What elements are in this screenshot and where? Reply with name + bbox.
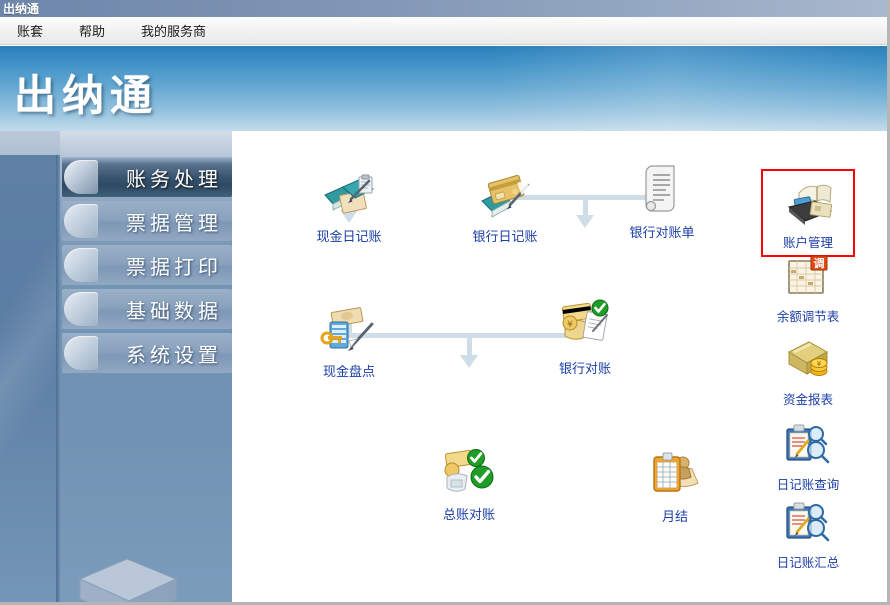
bank-statement-icon [607,167,717,217]
workflow-node-label: 账户管理 [765,232,851,251]
month-end-icon [620,451,730,501]
menu-item-help[interactable]: 帮助 [76,19,108,42]
sidebar-item-basic-data[interactable]: 基础数据 [62,289,232,329]
workflow-node-label: 资金报表 [753,389,863,408]
workflow-node-label: 银行日记账 [450,226,560,245]
workflow-node-label: 余额调节表 [753,306,863,325]
sidebar-item-label: 系统设置 [126,339,222,368]
sidebar-item-cap-icon [64,336,98,370]
workflow-node-cash-journal[interactable]: 现金日记账 [294,171,404,245]
sidebar-item-bill-manage[interactable]: 票据管理 [62,201,232,241]
ledger-reconcile-icon [414,449,524,499]
menu-item-my-provider[interactable]: 我的服务商 [138,19,209,42]
svg-text:调: 调 [814,256,825,270]
workflow-node-balance-adjust[interactable]: 调 余额调节表 [753,251,863,325]
workflow-node-ledger-reconcile[interactable]: 总账对账 [414,449,524,523]
sidebar-menu-list: 账务处理 票据管理 票据打印 基础数据 系统设置 [62,157,232,377]
connector-arrow-icon [576,215,594,228]
sidebar-item-cap-icon [64,292,98,326]
app-banner: 出纳通 [0,46,890,131]
svg-text:¥: ¥ [817,360,822,368]
sidebar-item-bill-print[interactable]: 票据打印 [62,245,232,285]
workflow-node-label: 总账对账 [414,504,524,523]
workflow-node-bank-journal[interactable]: 银行日记账 [450,171,560,245]
title-bar: 出纳通 [0,0,890,17]
workflow-node-bank-statement[interactable]: 银行对账单 [607,167,717,241]
workflow-node-label: 现金盘点 [294,361,404,380]
workflow-node-label: 月结 [620,506,730,525]
window-title: 出纳通 [3,0,39,17]
sidebar-item-label: 基础数据 [126,295,222,324]
workflow-node-cash-count[interactable]: 现金盘点 [294,306,404,380]
sidebar-item-system-settings[interactable]: 系统设置 [62,333,232,373]
connector-line [583,195,588,217]
workflow-node-label: 银行对账 [530,358,640,377]
menu-item-account-set[interactable]: 账套 [14,19,46,42]
workflow-node-label: 现金日记账 [294,226,404,245]
workflow-node-journal-query[interactable]: 日记账查询 [753,419,863,493]
main-content: 现金日记账 银行日记账 [232,131,887,605]
sidebar-top-highlight [60,131,232,157]
sidebar-sheen [0,155,56,605]
balance-adjust-icon: 调 [753,251,863,301]
journal-query-icon [753,419,863,469]
sidebar-item-label: 账务处理 [126,163,222,192]
decorative-cube-icon [72,557,182,605]
workflow-node-account-manage[interactable]: 账户管理 [761,169,855,257]
sidebar: 账务处理 票据管理 票据打印 基础数据 系统设置 [0,131,232,605]
sidebar-item-label: 票据管理 [126,207,222,236]
sidebar-divider [56,155,60,605]
workflow-node-journal-summary[interactable]: 日记账汇总 [753,497,863,571]
connector-arrow-icon [460,355,478,368]
sidebar-item-accounting[interactable]: 账务处理 [62,157,232,197]
svg-text:¥: ¥ [567,320,573,330]
fund-report-icon: ¥ [753,334,863,384]
workflow-node-fund-report[interactable]: ¥ 资金报表 [753,334,863,408]
sidebar-item-cap-icon [64,248,98,282]
bank-journal-icon [450,171,560,221]
workflow-node-label: 日记账查询 [753,474,863,493]
application-window: 出纳通 账套 帮助 我的服务商 出纳通 账务处理 票据管理 票据打印 [0,0,890,605]
workflow-node-month-end[interactable]: 月结 [620,451,730,525]
app-logo-text: 出纳通 [14,62,158,123]
cash-count-icon [294,306,404,356]
sidebar-item-cap-icon [64,160,98,194]
bank-reconcile-icon: ¥ [530,303,640,353]
workflow-node-bank-reconcile[interactable]: ¥ 银行对账 [530,303,640,377]
sidebar-item-label: 票据打印 [126,251,222,280]
sidebar-item-cap-icon [64,204,98,238]
workflow-node-label: 银行对账单 [607,222,717,241]
account-manage-icon [765,177,851,227]
menu-bar: 账套 帮助 我的服务商 [0,17,890,45]
cash-journal-icon [294,171,404,221]
workflow-node-label: 日记账汇总 [753,552,863,571]
journal-summary-icon [753,497,863,547]
connector-line [467,333,472,357]
